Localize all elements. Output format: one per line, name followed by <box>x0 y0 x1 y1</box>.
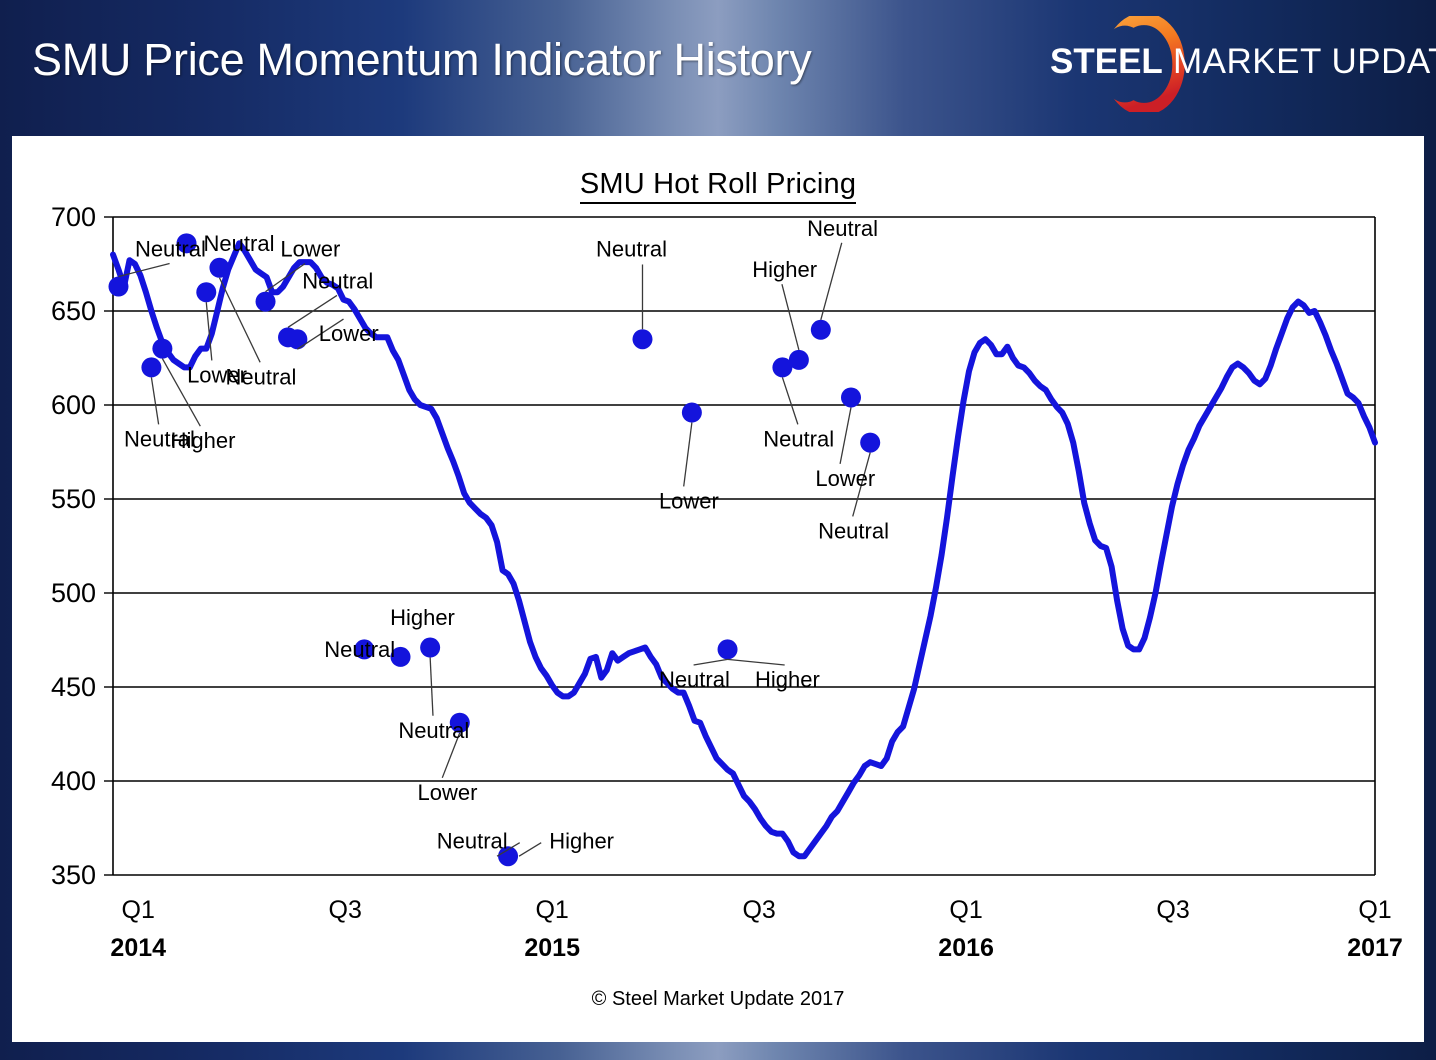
annotation-label-neutral: Neutral <box>398 718 469 743</box>
annotation-label-neutral: Neutral <box>225 364 296 389</box>
y-tick-label: 500 <box>51 578 96 608</box>
logo-word-market-update: MARKET UPDATE <box>1163 42 1436 81</box>
y-tick-label: 700 <box>51 202 96 232</box>
annotation-label-neutral: Neutral <box>324 637 395 662</box>
x-tick-quarter: Q3 <box>1156 896 1189 924</box>
data-point-marker <box>209 258 229 278</box>
annotation-label-lower: Lower <box>319 321 379 346</box>
data-point-marker <box>841 387 861 407</box>
slide-canvas: SMU Price Momentum Indicator History <box>0 0 1436 1060</box>
annotation-label-neutral: Neutral <box>135 236 206 261</box>
x-tick-quarter: Q1 <box>122 896 155 924</box>
copyright-note: © Steel Market Update 2017 <box>12 988 1424 1011</box>
y-axis-tick-labels: 350400450500550600650700 <box>51 202 113 890</box>
annotation-label-lower: Lower <box>280 236 340 261</box>
x-tick-quarter: Q3 <box>742 896 775 924</box>
data-point-marker <box>811 320 831 340</box>
data-point-marker <box>420 638 440 658</box>
y-tick-label: 400 <box>51 766 96 796</box>
annotation-label-lower: Lower <box>815 466 875 491</box>
x-tick-year: 2017 <box>1347 934 1403 962</box>
data-point-marker <box>860 433 880 453</box>
data-point-marker <box>141 357 161 377</box>
x-tick-year: 2016 <box>938 934 994 962</box>
annotation-label-neutral: Neutral <box>302 268 373 293</box>
annotation-label-higher: Higher <box>549 829 614 854</box>
y-tick-label: 600 <box>51 390 96 420</box>
x-tick-quarter: Q3 <box>329 896 362 924</box>
annotation-label-neutral: Neutral <box>204 231 275 256</box>
annotation-label-neutral: Neutral <box>818 518 889 543</box>
steel-market-update-logo: STEEL MARKET UPDATE <box>1050 14 1418 112</box>
annotation-label-lower: Lower <box>418 780 478 805</box>
y-tick-label: 450 <box>51 672 96 702</box>
annotation-label-higher: Higher <box>752 257 817 282</box>
data-point-marker <box>718 639 738 659</box>
data-point-marker <box>152 339 172 359</box>
data-point-marker <box>196 282 216 302</box>
x-tick-year: 2015 <box>524 934 580 962</box>
logo-word-steel: STEEL <box>1050 42 1163 81</box>
data-point-marker <box>682 403 702 423</box>
hot-roll-pricing-chart: 350400450500550600650700 NeutralNeutralH… <box>12 136 1424 1042</box>
page-title: SMU Price Momentum Indicator History <box>32 34 811 86</box>
y-tick-label: 550 <box>51 484 96 514</box>
chart-panel: SMU Hot Roll Pricing 3504004505005506006… <box>12 136 1424 1042</box>
x-tick-quarter: Q1 <box>535 896 568 924</box>
data-point-marker <box>789 350 809 370</box>
y-tick-label: 350 <box>51 860 96 890</box>
x-tick-quarter: Q1 <box>949 896 982 924</box>
annotation-label-higher: Higher <box>390 605 455 630</box>
data-point-marker <box>108 277 128 297</box>
data-point-marker <box>287 329 307 349</box>
slide-header: SMU Price Momentum Indicator History <box>0 0 1436 124</box>
gridlines <box>113 217 1375 875</box>
x-tick-quarter: Q1 <box>1358 896 1391 924</box>
annotation-label-higher: Higher <box>755 667 820 692</box>
annotation-leader-lines <box>118 243 870 856</box>
y-tick-label: 650 <box>51 296 96 326</box>
annotation-label-neutral: Neutral <box>763 426 834 451</box>
x-tick-year: 2014 <box>110 934 166 962</box>
annotation-label-higher: Higher <box>171 428 236 453</box>
annotated-data-points <box>108 233 880 866</box>
annotation-label-neutral: Neutral <box>807 216 878 241</box>
data-point-marker <box>632 329 652 349</box>
x-axis-tick-labels: Q1Q3Q1Q3Q1Q3Q12014201520162017 <box>110 896 1402 962</box>
annotation-label-neutral: Neutral <box>659 667 730 692</box>
logo-wordmark: STEEL MARKET UPDATE <box>1050 42 1418 82</box>
annotation-label-lower: Lower <box>659 488 719 513</box>
annotation-label-neutral: Neutral <box>596 236 667 261</box>
annotation-label-neutral: Neutral <box>437 829 508 854</box>
data-point-marker <box>256 292 276 312</box>
